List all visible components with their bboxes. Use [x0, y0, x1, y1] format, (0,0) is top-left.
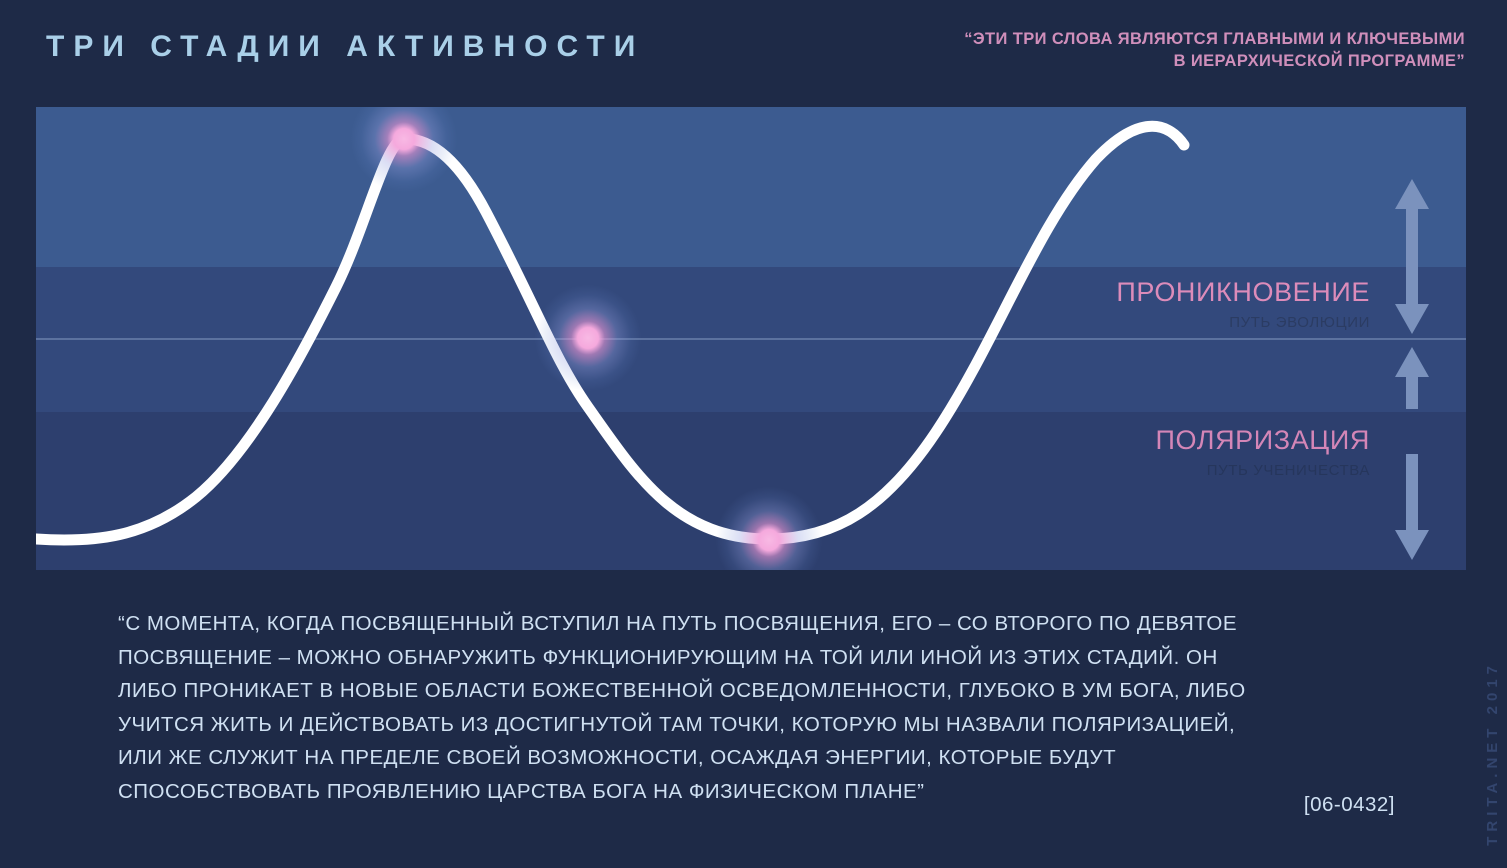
stage-subtitle-polarization: ПУТЬ УЧЕНИЧЕСТВА	[1155, 463, 1370, 478]
stage-name-penetration: ПРОНИКНОВЕНИЕ	[1116, 279, 1370, 306]
footer-quote: “С МОМЕНТА, КОГДА ПОСВЯЩЕННЫЙ ВСТУПИЛ НА…	[118, 607, 1388, 808]
footer-quote-line-2: ПОСВЯЩЕНИЕ – МОЖНО ОБНАРУЖИТЬ ФУНКЦИОНИР…	[118, 641, 1388, 675]
arrow-down-icon	[1392, 270, 1432, 336]
stage-subtitle-penetration: ПУТЬ ЭВОЛЮЦИИ	[1116, 315, 1370, 330]
header-quote-line-2: В ИЕРАРХИЧЕСКОЙ ПРОГРАММЕ”	[964, 51, 1465, 73]
footer-quote-line-1: “С МОМЕНТА, КОГДА ПОСВЯЩЕННЫЙ ВСТУПИЛ НА…	[118, 607, 1388, 641]
footer-quote-line-5: ИЛИ ЖЕ СЛУЖИТ НА ПРЕДЕЛЕ СВОЕЙ ВОЗМОЖНОС…	[118, 741, 1388, 775]
reference-code: [06-0432]	[1304, 793, 1395, 817]
footer-quote-line-3: ЛИБО ПРОНИКАЕТ В НОВЫЕ ОБЛАСТИ БОЖЕСТВЕН…	[118, 674, 1388, 708]
header-quote-line-1: “ЭТИ ТРИ СЛОВА ЯВЛЯЮТСЯ ГЛАВНЫМИ И КЛЮЧЕ…	[964, 29, 1465, 51]
arrow-down-large-icon	[1392, 452, 1432, 562]
stage-name-polarization: ПОЛЯРИЗАЦИЯ	[1155, 427, 1370, 454]
activity-chart: ПРОНИКНОВЕНИЕ ПУТЬ ЭВОЛЮЦИИ ПОЛЯРИЗАЦИЯ …	[36, 107, 1466, 570]
footer-quote-line-4: УЧИТСЯ ЖИТЬ И ДЕЙСТВОВАТЬ ИЗ ДОСТИГНУТОЙ…	[118, 708, 1388, 742]
page-title: ТРИ СТАДИИ АКТИВНОСТИ	[46, 30, 644, 64]
watermark: TRITA.NET 2017	[1484, 661, 1501, 846]
stage-label-penetration: ПРОНИКНОВЕНИЕ ПУТЬ ЭВОЛЮЦИИ	[1116, 279, 1370, 330]
stage-label-polarization: ПОЛЯРИЗАЦИЯ ПУТЬ УЧЕНИЧЕСТВА	[1155, 427, 1370, 478]
header: ТРИ СТАДИИ АКТИВНОСТИ “ЭТИ ТРИ СЛОВА ЯВЛ…	[0, 0, 1507, 104]
marker-midpoint-polarization	[523, 273, 653, 403]
header-quote: “ЭТИ ТРИ СЛОВА ЯВЛЯЮТСЯ ГЛАВНЫМИ И КЛЮЧЕ…	[964, 29, 1465, 73]
arrow-up-small-icon	[1392, 345, 1432, 411]
footer-quote-line-6: СПОСОБСТВОВАТЬ ПРОЯВЛЕНИЮ ЦАРСТВА БОГА Н…	[118, 775, 1388, 809]
